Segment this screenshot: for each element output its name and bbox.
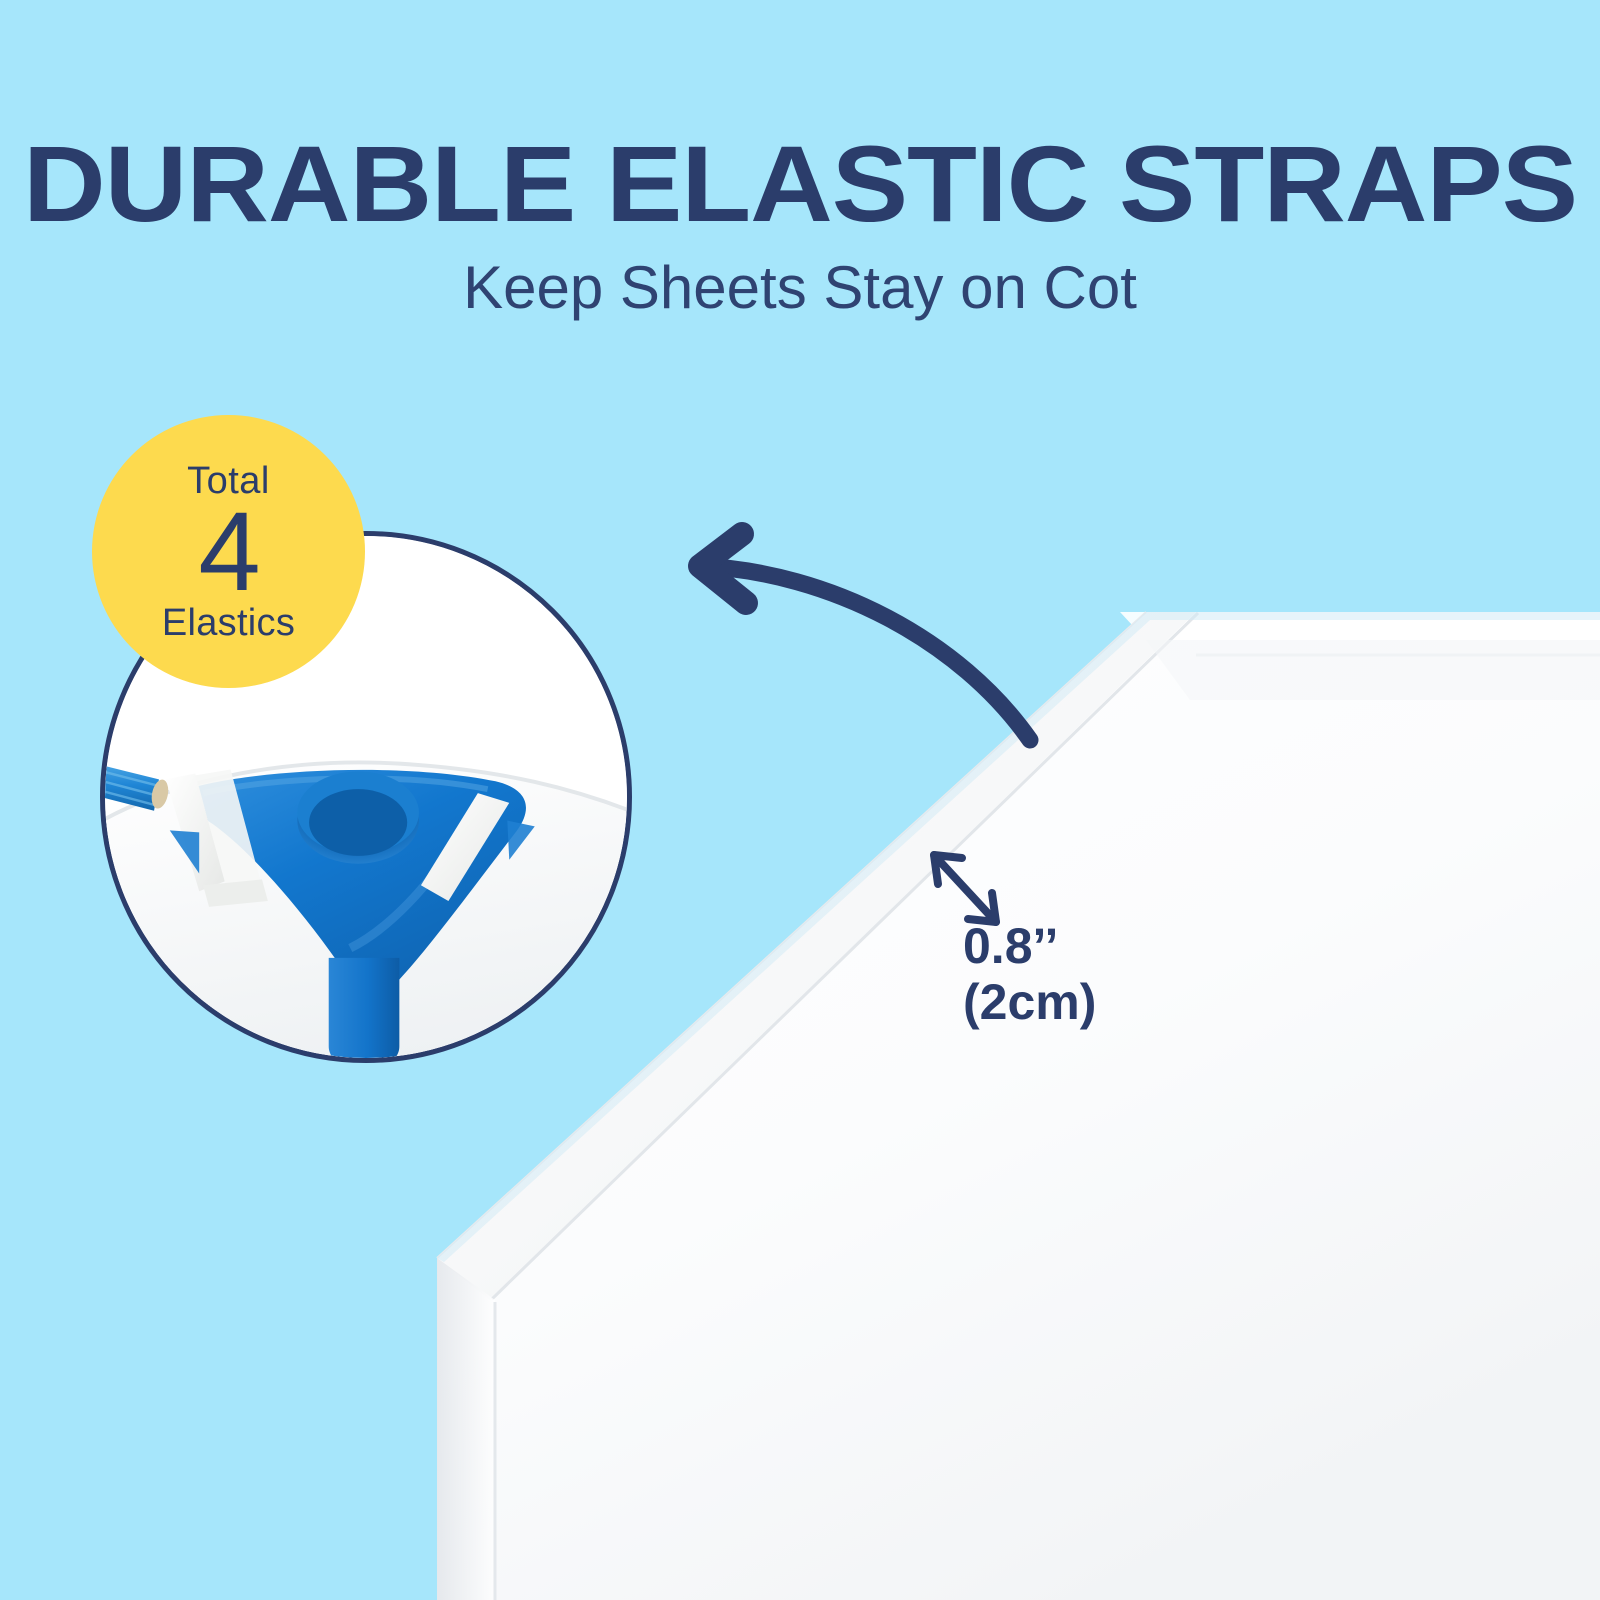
double-headed-arrow-icon <box>934 855 996 922</box>
curved-arrow-left-icon <box>700 534 1030 740</box>
sheet-fold-shading <box>1146 640 1600 700</box>
badge-count: 4 <box>198 496 258 608</box>
dimension-callout: 0.8’’ (2cm) <box>963 918 1096 1030</box>
page-title: DURABLE ELASTIC STRAPS <box>0 130 1600 238</box>
dimension-metric: (2cm) <box>963 974 1096 1030</box>
sheet-top-edge-highlight <box>1120 612 1600 640</box>
badge-bottom-label: Elastics <box>162 604 295 642</box>
total-elastics-badge: Total 4 Elastics <box>92 415 365 688</box>
corner-cap-post <box>329 958 400 1058</box>
infographic-canvas: DURABLE ELASTIC STRAPS Keep Sheets Stay … <box>0 0 1600 1600</box>
dimension-inches: 0.8’’ <box>963 918 1096 974</box>
corner-cap-hole-bore <box>309 789 407 856</box>
page-subtitle: Keep Sheets Stay on Cot <box>0 258 1600 318</box>
sheet-left-edge-band <box>437 1258 495 1600</box>
